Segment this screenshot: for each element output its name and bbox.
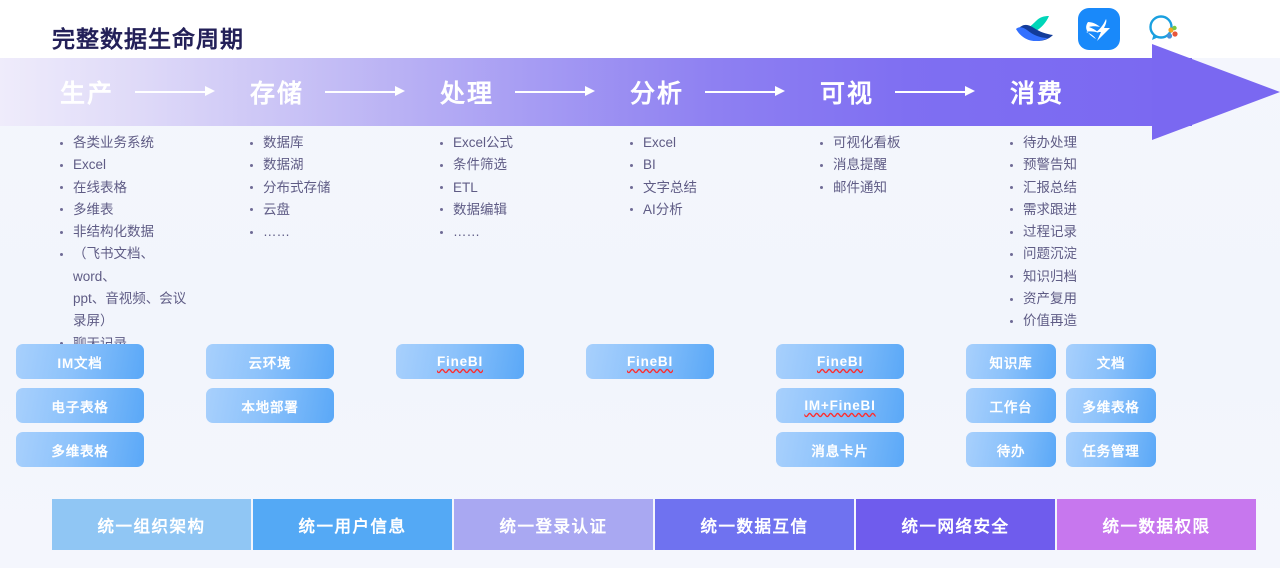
chip-label: 本地部署: [241, 396, 298, 416]
bullet-column-processing: Excel公式条件筛选ETL数据编辑……: [380, 132, 570, 355]
foundation-segment[interactable]: 统一数据互信: [655, 499, 854, 550]
product-chip[interactable]: 多维表格: [16, 432, 144, 467]
chip-column-consumption: 知识库文档工作台多维表格待办任务管理: [950, 344, 1140, 467]
bullet-item: 各类业务系统: [58, 132, 190, 154]
chip-label: FineBI: [627, 354, 673, 369]
bullet-item: （飞书文档、word、 ppt、音视频、会议录屏）: [58, 243, 190, 332]
chip-label: 文档: [1097, 352, 1126, 372]
foundation-segment[interactable]: 统一用户信息: [253, 499, 452, 550]
foundation-segment-label: 统一登录认证: [500, 513, 608, 537]
bullet-column-storage: 数据库数据湖分布式存储云盘……: [190, 132, 380, 355]
stage-label: 可视: [820, 74, 874, 110]
product-chip[interactable]: IM+FineBI: [776, 388, 904, 423]
product-chips-area: IM文档电子表格多维表格 云环境本地部署 FineBI FineBI FineB…: [0, 344, 1280, 467]
bullet-list: 各类业务系统Excel在线表格多维表非结构化数据（飞书文档、word、 ppt、…: [58, 132, 190, 355]
bullet-item: 分布式存储: [248, 177, 380, 199]
bullet-column-analysis: ExcelBI文字总结AI分析: [570, 132, 760, 355]
chip-label: IM文档: [57, 352, 102, 372]
chip-row: 消息卡片: [776, 432, 904, 467]
chip-label: FineBI: [437, 354, 483, 369]
bullet-item: 数据编辑: [438, 199, 570, 221]
chip-row: 知识库文档: [966, 344, 1156, 379]
bullet-list: 可视化看板消息提醒邮件通知: [818, 132, 950, 199]
stage-label: 生产: [60, 74, 114, 110]
bullet-item: 消息提醒: [818, 154, 950, 176]
foundation-segment-label: 统一数据互信: [701, 513, 809, 537]
product-chip[interactable]: IM文档: [16, 344, 144, 379]
chip-column-processing: FineBI: [380, 344, 570, 467]
bullet-list: ExcelBI文字总结AI分析: [628, 132, 760, 221]
bullet-list: 待办处理预警告知汇报总结需求跟进过程记录问题沉淀知识归档资产复用价值再造: [1008, 132, 1140, 333]
bullet-item: 可视化看板: [818, 132, 950, 154]
stage-row: 生产 存储 处理 分析: [0, 58, 1192, 126]
foundation-segment-label: 统一网络安全: [902, 513, 1010, 537]
chip-column-storage: 云环境本地部署: [190, 344, 380, 467]
chip-label: 电子表格: [51, 396, 108, 416]
bullet-item: 条件筛选: [438, 154, 570, 176]
bullet-item: 数据库: [248, 132, 380, 154]
foundation-segment[interactable]: 统一网络安全: [856, 499, 1055, 550]
chip-label: 消息卡片: [811, 440, 868, 460]
foundation-segment-label: 统一组织架构: [98, 513, 206, 537]
stage-cell-processing[interactable]: 处理: [380, 74, 570, 110]
chip-label: 云环境: [249, 352, 292, 372]
chip-column-analysis: FineBI: [570, 344, 760, 467]
stage-label: 分析: [630, 74, 684, 110]
bullet-item: 资产复用: [1008, 288, 1140, 310]
chip-label: IM+FineBI: [804, 398, 875, 413]
bullet-item: BI: [628, 154, 760, 176]
bullet-item: 价值再造: [1008, 310, 1140, 332]
foundation-segment[interactable]: 统一组织架构: [52, 499, 251, 550]
product-chip[interactable]: 任务管理: [1066, 432, 1156, 467]
product-chip[interactable]: FineBI: [396, 344, 524, 379]
bullet-list: Excel公式条件筛选ETL数据编辑……: [438, 132, 570, 243]
product-chip[interactable]: FineBI: [776, 344, 904, 379]
header-bar: 完整数据生命周期: [0, 0, 1280, 58]
bullet-item: 云盘: [248, 199, 380, 221]
bullet-item: 邮件通知: [818, 177, 950, 199]
stage-cell-visualization[interactable]: 可视: [760, 74, 950, 110]
bullet-item: 汇报总结: [1008, 177, 1140, 199]
chip-row: 多维表格: [16, 432, 144, 467]
stage-cell-storage[interactable]: 存储: [190, 74, 380, 110]
stage-cell-consumption[interactable]: 消费: [950, 74, 1140, 110]
foundation-bar: 统一组织架构统一用户信息统一登录认证统一数据互信统一网络安全统一数据权限: [52, 499, 1256, 550]
page-title: 完整数据生命周期: [52, 20, 244, 54]
bullet-item: AI分析: [628, 199, 760, 221]
bullet-item: ETL: [438, 177, 570, 199]
bullet-item: 过程记录: [1008, 221, 1140, 243]
foundation-segment-label: 统一数据权限: [1103, 513, 1211, 537]
stage-cell-analysis[interactable]: 分析: [570, 74, 760, 110]
bullet-item: 问题沉淀: [1008, 243, 1140, 265]
feishu-lark-icon: [1010, 4, 1060, 54]
dingtalk-icon: [1074, 4, 1124, 54]
stage-cell-production[interactable]: 生产: [0, 74, 190, 110]
foundation-segment[interactable]: 统一数据权限: [1057, 499, 1256, 550]
chip-label: 多维表格: [1082, 396, 1139, 416]
product-chip[interactable]: 待办: [966, 432, 1056, 467]
chip-label: 工作台: [990, 396, 1033, 416]
chip-label: 待办: [997, 440, 1026, 460]
chip-label: 多维表格: [51, 440, 108, 460]
bullet-item: 在线表格: [58, 177, 190, 199]
infographic-canvas: 完整数据生命周期: [0, 0, 1280, 568]
bullet-item: Excel: [58, 154, 190, 176]
chip-row: 待办任务管理: [966, 432, 1156, 467]
bullet-item: 数据湖: [248, 154, 380, 176]
product-chip[interactable]: 消息卡片: [776, 432, 904, 467]
stage-label: 存储: [250, 74, 304, 110]
product-chip[interactable]: FineBI: [586, 344, 714, 379]
foundation-segment[interactable]: 统一登录认证: [454, 499, 653, 550]
bullet-item: 文字总结: [628, 177, 760, 199]
chip-row: IM文档: [16, 344, 144, 379]
product-chip[interactable]: 电子表格: [16, 388, 144, 423]
chip-row: FineBI: [776, 344, 904, 379]
bullet-item: 知识归档: [1008, 266, 1140, 288]
chip-row: 云环境: [206, 344, 334, 379]
chip-label: FineBI: [817, 354, 863, 369]
product-chip[interactable]: 多维表格: [1066, 388, 1156, 423]
bullet-item: Excel: [628, 132, 760, 154]
bullet-item: 非结构化数据: [58, 221, 190, 243]
bullet-column-production: 各类业务系统Excel在线表格多维表非结构化数据（飞书文档、word、 ppt、…: [0, 132, 190, 355]
chip-row: FineBI: [396, 344, 524, 379]
bullet-column-visualization: 可视化看板消息提醒邮件通知: [760, 132, 950, 355]
bullet-item: 待办处理: [1008, 132, 1140, 154]
stage-label: 处理: [440, 74, 494, 110]
bullet-item: Excel公式: [438, 132, 570, 154]
bullet-item: ……: [438, 221, 570, 243]
chip-label: 知识库: [990, 352, 1033, 372]
bullet-list: 数据库数据湖分布式存储云盘……: [248, 132, 380, 243]
product-chip[interactable]: 文档: [1066, 344, 1156, 379]
bullet-item: ……: [248, 221, 380, 243]
stage-arrow-band: 生产 存储 处理 分析: [0, 58, 1280, 126]
bullet-columns: 各类业务系统Excel在线表格多维表非结构化数据（飞书文档、word、 ppt、…: [0, 132, 1280, 355]
product-chip[interactable]: 工作台: [966, 388, 1056, 423]
bullet-column-consumption: 待办处理预警告知汇报总结需求跟进过程记录问题沉淀知识归档资产复用价值再造: [950, 132, 1140, 355]
chip-row: IM+FineBI: [776, 388, 904, 423]
chip-row: FineBI: [586, 344, 714, 379]
product-chip[interactable]: 本地部署: [206, 388, 334, 423]
chip-column-production: IM文档电子表格多维表格: [0, 344, 190, 467]
stage-label: 消费: [1010, 74, 1064, 110]
bullet-item: 多维表: [58, 199, 190, 221]
product-chip[interactable]: 知识库: [966, 344, 1056, 379]
chip-label: 任务管理: [1082, 440, 1139, 460]
chip-row: 电子表格: [16, 388, 144, 423]
chip-column-visualization: FineBIIM+FineBI消息卡片: [760, 344, 950, 467]
bullet-item: 预警告知: [1008, 154, 1140, 176]
chip-row: 工作台多维表格: [966, 388, 1156, 423]
bullet-item: 需求跟进: [1008, 199, 1140, 221]
chip-row: 本地部署: [206, 388, 334, 423]
product-chip[interactable]: 云环境: [206, 344, 334, 379]
foundation-segment-label: 统一用户信息: [299, 513, 407, 537]
